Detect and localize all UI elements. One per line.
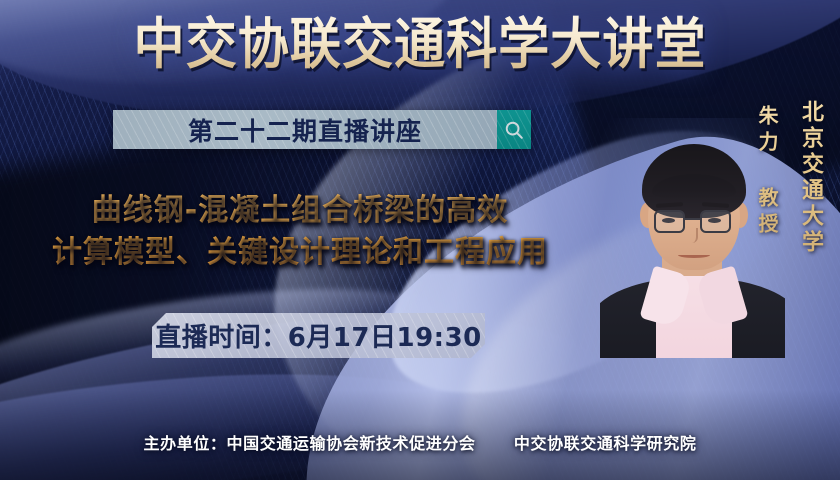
footer-institute: 中交协联交通科学研究院 bbox=[514, 434, 697, 453]
page-title: 中交协联交通科学大讲堂 bbox=[29, 13, 810, 75]
footer-bar: 主办单位：中国交通运输协会新技术促进分会 中交协联交通科学研究院 bbox=[0, 430, 840, 454]
episode-label: 第二十二期直播讲座 bbox=[113, 110, 497, 149]
portrait-nose bbox=[689, 228, 698, 243]
glasses-lens-left bbox=[654, 210, 685, 233]
lecture-title-line1: 曲线钢-混凝土组合桥梁的高效 bbox=[0, 190, 600, 232]
episode-bar: 第二十二期直播讲座 bbox=[113, 110, 531, 149]
speaker-affiliation: 北京交通大学 bbox=[794, 100, 826, 256]
speaker-name: 朱力 教授 bbox=[753, 105, 782, 239]
lecture-title-line2: 计算模型、关键设计理论和工程应用 bbox=[0, 232, 600, 274]
portrait-mouth bbox=[678, 252, 710, 258]
glasses-lens-right bbox=[700, 210, 731, 233]
live-time-badge: 直播时间：6月17日19:30 bbox=[152, 313, 485, 358]
search-icon[interactable] bbox=[497, 110, 531, 149]
poster-canvas: 中交协联交通科学大讲堂 第二十二期直播讲座 曲线钢-混凝土组合桥梁的高效 计算模… bbox=[0, 0, 840, 480]
glasses-bridge bbox=[685, 218, 700, 220]
footer-organizer: 主办单位：中国交通运输协会新技术促进分会 bbox=[144, 434, 476, 453]
lecture-title: 曲线钢-混凝土组合桥梁的高效 计算模型、关键设计理论和工程应用 bbox=[0, 190, 600, 274]
